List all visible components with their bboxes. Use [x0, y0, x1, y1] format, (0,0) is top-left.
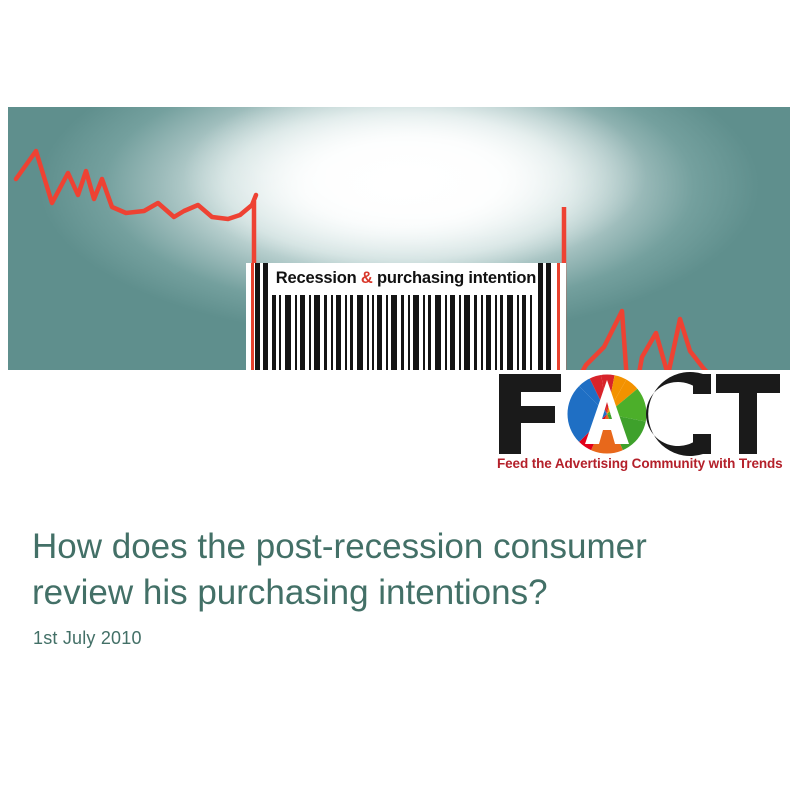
logo-letter-c: [646, 372, 711, 456]
barcode-bars-svg: [246, 295, 566, 370]
barcode-heading-ampersand: &: [361, 269, 373, 287]
barcode-heading: Recession & purchasing intention: [246, 269, 566, 288]
barcode-bars: [246, 295, 566, 370]
header-banner-image: Recession & purchasing intention: [8, 107, 790, 370]
barcode-heading-suffix: purchasing intention: [373, 269, 537, 287]
page-title-line-1: How does the post-recession consumer: [32, 524, 772, 570]
logo-letter-t: [716, 374, 780, 454]
trendline-right-path-2: [564, 311, 790, 370]
logo-letter-f: [499, 374, 561, 454]
slide-canvas: Recession & purchasing intention: [0, 0, 800, 800]
presentation-date: 1st July 2010: [33, 628, 142, 649]
logo-tagline: Feed the Advertising Community with Tren…: [497, 456, 782, 471]
barcode-graphic: Recession & purchasing intention: [246, 263, 566, 370]
logo-letter-a-colorwheel: [566, 373, 648, 455]
page-title: How does the post-recession consumer rev…: [32, 524, 772, 616]
page-title-line-2: review his purchasing intentions?: [32, 570, 772, 616]
barcode-heading-prefix: Recession: [276, 269, 361, 287]
trendline-left-path: [16, 151, 256, 219]
fact-wordmark: [497, 372, 782, 456]
fact-logo: Feed the Advertising Community with Tren…: [497, 372, 782, 480]
